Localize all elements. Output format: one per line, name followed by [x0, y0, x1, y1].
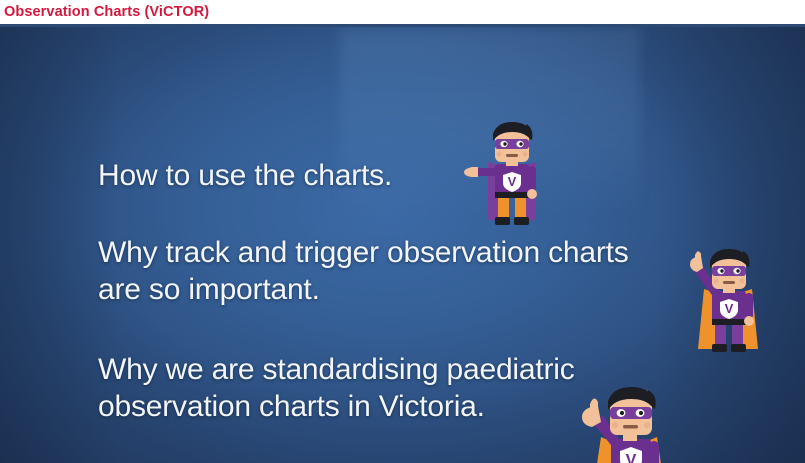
video-slide-stage[interactable]: How to use the charts. Why track and tri…: [0, 27, 805, 463]
slide-text-line-1: How to use the charts.: [98, 158, 392, 193]
svg-text:V: V: [626, 452, 637, 463]
slide-text-line-4: Why we are standardising paediatric: [98, 352, 575, 387]
page-root: Observation Charts (ViCTOR) How to use t…: [0, 0, 805, 463]
slide-text-line-5: observation charts in Victoria.: [98, 389, 485, 424]
svg-text:V: V: [725, 301, 734, 316]
slide-text-line-2: Why track and trigger observation charts: [98, 235, 629, 270]
superhero-pointing-up-icon: V: [676, 245, 780, 357]
superhero-pointing-left-icon: V: [462, 120, 562, 228]
slide-text-line-3: are so important.: [98, 272, 320, 307]
page-title: Observation Charts (ViCTOR): [4, 5, 209, 20]
superhero-finger-raised-icon: V: [563, 387, 687, 463]
page-header: Observation Charts (ViCTOR): [0, 0, 805, 24]
svg-text:V: V: [508, 174, 517, 189]
